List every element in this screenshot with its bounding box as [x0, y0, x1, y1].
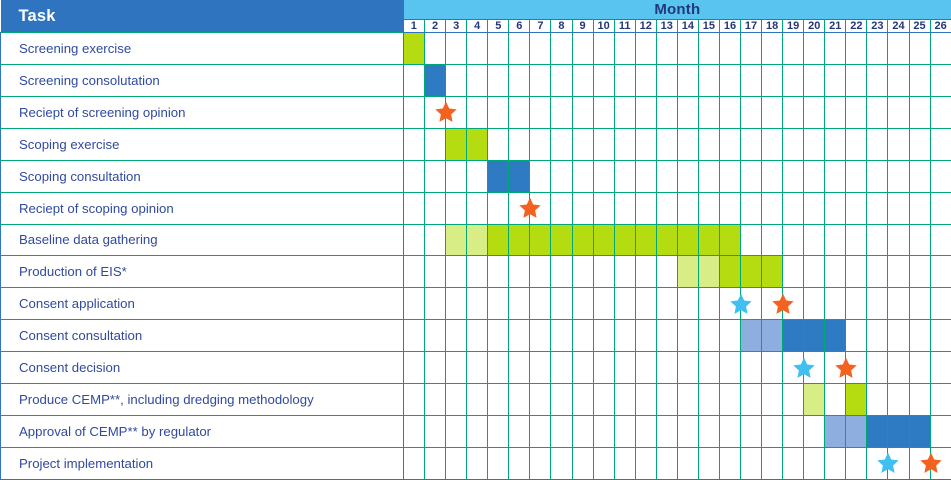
gantt-bar-cell: [467, 224, 488, 256]
gantt-bar-cell: [635, 224, 656, 256]
gantt-empty-cell: [783, 96, 804, 128]
gantt-empty-cell: [488, 320, 509, 352]
gantt-empty-cell: [614, 96, 635, 128]
month-header-24: 24: [888, 20, 909, 33]
gantt-bar-cell: [888, 416, 909, 448]
gantt-empty-cell: [551, 128, 572, 160]
gantt-empty-cell: [656, 192, 677, 224]
gantt-bar-cell: [488, 160, 509, 192]
gantt-bar-cell: [719, 224, 740, 256]
gantt-bar-cell: [425, 64, 446, 96]
gantt-row: Produce CEMP**, including dredging metho…: [1, 384, 951, 416]
gantt-empty-cell: [888, 447, 909, 479]
gantt-empty-cell: [656, 320, 677, 352]
gantt-empty-cell: [572, 320, 593, 352]
gantt-bar-cell: [404, 33, 425, 65]
gantt-empty-cell: [804, 192, 825, 224]
gantt-empty-cell: [804, 64, 825, 96]
gantt-empty-cell: [741, 352, 762, 384]
month-header-6: 6: [509, 20, 530, 33]
gantt-empty-cell: [551, 352, 572, 384]
gantt-empty-cell: [677, 128, 698, 160]
gantt-empty-cell: [783, 160, 804, 192]
gantt-empty-cell: [762, 416, 783, 448]
gantt-empty-cell: [404, 224, 425, 256]
gantt-empty-cell: [719, 320, 740, 352]
gantt-empty-cell: [530, 320, 551, 352]
gantt-empty-cell: [530, 33, 551, 65]
gantt-empty-cell: [656, 256, 677, 288]
gantt-empty-cell: [488, 256, 509, 288]
gantt-empty-cell: [425, 352, 446, 384]
gantt-empty-cell: [867, 96, 888, 128]
gantt-empty-cell: [467, 352, 488, 384]
gantt-bar-cell: [762, 320, 783, 352]
gantt-empty-cell: [614, 64, 635, 96]
gantt-empty-cell: [551, 96, 572, 128]
month-header-8: 8: [551, 20, 572, 33]
gantt-empty-cell: [825, 352, 846, 384]
gantt-empty-cell: [635, 320, 656, 352]
gantt-empty-cell: [593, 288, 614, 320]
gantt-bar-cell: [551, 224, 572, 256]
gantt-empty-cell: [404, 160, 425, 192]
gantt-empty-cell: [741, 160, 762, 192]
gantt-empty-cell: [425, 224, 446, 256]
gantt-empty-cell: [783, 33, 804, 65]
gantt-empty-cell: [509, 384, 530, 416]
gantt-empty-cell: [762, 288, 783, 320]
gantt-empty-cell: [719, 384, 740, 416]
gantt-empty-cell: [783, 128, 804, 160]
month-header-23: 23: [867, 20, 888, 33]
task-label: Screening consolutation: [1, 64, 404, 96]
gantt-empty-cell: [530, 416, 551, 448]
gantt-empty-cell: [741, 192, 762, 224]
gantt-empty-cell: [593, 256, 614, 288]
gantt-empty-cell: [572, 416, 593, 448]
gantt-empty-cell: [467, 320, 488, 352]
month-header-25: 25: [909, 20, 930, 33]
gantt-empty-cell: [719, 33, 740, 65]
gantt-empty-cell: [404, 320, 425, 352]
gantt-empty-cell: [825, 33, 846, 65]
gantt-empty-cell: [425, 160, 446, 192]
gantt-empty-cell: [930, 384, 951, 416]
gantt-empty-cell: [446, 96, 467, 128]
gantt-bar-cell: [867, 416, 888, 448]
gantt-empty-cell: [404, 288, 425, 320]
month-header-3: 3: [446, 20, 467, 33]
gantt-empty-cell: [530, 64, 551, 96]
gantt-empty-cell: [888, 192, 909, 224]
gantt-empty-cell: [930, 352, 951, 384]
gantt-empty-cell: [719, 288, 740, 320]
gantt-empty-cell: [593, 192, 614, 224]
gantt-empty-cell: [509, 64, 530, 96]
gantt-empty-cell: [635, 352, 656, 384]
gantt-empty-cell: [825, 192, 846, 224]
gantt-bar-cell: [614, 224, 635, 256]
gantt-empty-cell: [530, 128, 551, 160]
gantt-empty-cell: [404, 416, 425, 448]
gantt-empty-cell: [530, 447, 551, 479]
gantt-empty-cell: [677, 288, 698, 320]
task-label: Reciept of scoping opinion: [1, 192, 404, 224]
month-header-10: 10: [593, 20, 614, 33]
gantt-empty-cell: [488, 416, 509, 448]
gantt-empty-cell: [719, 192, 740, 224]
gantt-empty-cell: [698, 96, 719, 128]
task-label: Consent consultation: [1, 320, 404, 352]
task-label: Approval of CEMP** by regulator: [1, 416, 404, 448]
gantt-empty-cell: [741, 288, 762, 320]
gantt-empty-cell: [930, 96, 951, 128]
gantt-empty-cell: [762, 352, 783, 384]
gantt-empty-cell: [930, 224, 951, 256]
gantt-empty-cell: [867, 160, 888, 192]
gantt-empty-cell: [572, 192, 593, 224]
gantt-empty-cell: [572, 128, 593, 160]
gantt-empty-cell: [909, 192, 930, 224]
gantt-empty-cell: [698, 320, 719, 352]
gantt-empty-cell: [698, 352, 719, 384]
gantt-empty-cell: [446, 384, 467, 416]
gantt-empty-cell: [593, 96, 614, 128]
gantt-empty-cell: [656, 33, 677, 65]
gantt-bar-cell: [656, 224, 677, 256]
gantt-empty-cell: [783, 192, 804, 224]
month-header-21: 21: [825, 20, 846, 33]
gantt-empty-cell: [635, 192, 656, 224]
gantt-empty-cell: [762, 384, 783, 416]
gantt-empty-cell: [719, 64, 740, 96]
task-column-header: Task: [1, 0, 404, 33]
gantt-bar-cell: [825, 416, 846, 448]
gantt-empty-cell: [719, 128, 740, 160]
gantt-empty-cell: [783, 384, 804, 416]
task-label: Consent application: [1, 288, 404, 320]
gantt-empty-cell: [677, 33, 698, 65]
gantt-empty-cell: [719, 160, 740, 192]
gantt-empty-cell: [635, 288, 656, 320]
gantt-empty-cell: [698, 447, 719, 479]
gantt-empty-cell: [930, 256, 951, 288]
gantt-empty-cell: [572, 96, 593, 128]
gantt-empty-cell: [698, 64, 719, 96]
gantt-empty-cell: [530, 288, 551, 320]
gantt-empty-cell: [867, 320, 888, 352]
gantt-empty-cell: [677, 352, 698, 384]
gantt-empty-cell: [404, 192, 425, 224]
gantt-bar-cell: [825, 320, 846, 352]
gantt-empty-cell: [888, 384, 909, 416]
gantt-bar-cell: [909, 416, 930, 448]
gantt-empty-cell: [762, 64, 783, 96]
gantt-empty-cell: [446, 352, 467, 384]
task-label: Reciept of screening opinion: [1, 96, 404, 128]
gantt-bar-cell: [572, 224, 593, 256]
gantt-empty-cell: [888, 33, 909, 65]
gantt-row: Project implementation: [1, 447, 951, 479]
gantt-empty-cell: [551, 447, 572, 479]
gantt-empty-cell: [614, 33, 635, 65]
month-header-5: 5: [488, 20, 509, 33]
gantt-empty-cell: [846, 192, 867, 224]
gantt-empty-cell: [698, 160, 719, 192]
month-header-12: 12: [635, 20, 656, 33]
gantt-empty-cell: [783, 224, 804, 256]
gantt-empty-cell: [446, 256, 467, 288]
gantt-empty-cell: [888, 160, 909, 192]
gantt-empty-cell: [930, 128, 951, 160]
gantt-empty-cell: [446, 447, 467, 479]
gantt-empty-cell: [530, 352, 551, 384]
gantt-empty-cell: [446, 288, 467, 320]
gantt-empty-cell: [804, 416, 825, 448]
task-label: Consent decision: [1, 352, 404, 384]
gantt-empty-cell: [488, 33, 509, 65]
month-header-19: 19: [783, 20, 804, 33]
gantt-empty-cell: [404, 256, 425, 288]
gantt-empty-cell: [614, 288, 635, 320]
gantt-empty-cell: [614, 384, 635, 416]
gantt-empty-cell: [825, 447, 846, 479]
gantt-empty-cell: [698, 192, 719, 224]
gantt-empty-cell: [551, 320, 572, 352]
gantt-empty-cell: [551, 256, 572, 288]
gantt-empty-cell: [741, 224, 762, 256]
gantt-table-header: Task Month 12345678910111213141516171819…: [1, 0, 951, 33]
gantt-empty-cell: [846, 320, 867, 352]
gantt-empty-cell: [593, 128, 614, 160]
gantt-empty-cell: [741, 416, 762, 448]
gantt-empty-cell: [783, 288, 804, 320]
gantt-row: Screening exercise: [1, 33, 951, 65]
gantt-empty-cell: [698, 416, 719, 448]
gantt-bar-cell: [509, 224, 530, 256]
gantt-row: Consent consultation: [1, 320, 951, 352]
gantt-empty-cell: [846, 33, 867, 65]
gantt-empty-cell: [635, 384, 656, 416]
gantt-empty-cell: [425, 192, 446, 224]
gantt-empty-cell: [930, 33, 951, 65]
gantt-empty-cell: [741, 384, 762, 416]
gantt-empty-cell: [404, 352, 425, 384]
gantt-empty-cell: [467, 447, 488, 479]
task-label: Baseline data gathering: [1, 224, 404, 256]
gantt-empty-cell: [446, 320, 467, 352]
gantt-empty-cell: [467, 288, 488, 320]
gantt-empty-cell: [909, 384, 930, 416]
gantt-empty-cell: [488, 64, 509, 96]
gantt-empty-cell: [698, 384, 719, 416]
gantt-empty-cell: [446, 192, 467, 224]
gantt-row: Reciept of scoping opinion: [1, 192, 951, 224]
gantt-empty-cell: [509, 416, 530, 448]
month-header-16: 16: [719, 20, 740, 33]
gantt-empty-cell: [614, 192, 635, 224]
gantt-empty-cell: [551, 192, 572, 224]
gantt-empty-cell: [656, 128, 677, 160]
gantt-row: Consent decision: [1, 352, 951, 384]
gantt-empty-cell: [677, 384, 698, 416]
gantt-empty-cell: [635, 64, 656, 96]
gantt-empty-cell: [867, 447, 888, 479]
gantt-empty-cell: [509, 288, 530, 320]
task-label: Produce CEMP**, including dredging metho…: [1, 384, 404, 416]
gantt-empty-cell: [572, 352, 593, 384]
task-label: Scoping consultation: [1, 160, 404, 192]
gantt-empty-cell: [888, 320, 909, 352]
gantt-empty-cell: [656, 160, 677, 192]
gantt-empty-cell: [530, 256, 551, 288]
gantt-empty-cell: [467, 416, 488, 448]
gantt-empty-cell: [551, 416, 572, 448]
gantt-empty-cell: [930, 288, 951, 320]
gantt-empty-cell: [804, 224, 825, 256]
gantt-empty-cell: [677, 160, 698, 192]
gantt-empty-cell: [488, 384, 509, 416]
gantt-empty-cell: [698, 128, 719, 160]
gantt-empty-cell: [804, 33, 825, 65]
gantt-empty-cell: [846, 64, 867, 96]
gantt-empty-cell: [867, 33, 888, 65]
gantt-empty-cell: [656, 64, 677, 96]
gantt-empty-cell: [593, 160, 614, 192]
gantt-row: Consent application: [1, 288, 951, 320]
gantt-empty-cell: [467, 33, 488, 65]
gantt-empty-cell: [425, 416, 446, 448]
gantt-empty-cell: [425, 288, 446, 320]
gantt-empty-cell: [425, 128, 446, 160]
gantt-empty-cell: [825, 384, 846, 416]
gantt-empty-cell: [509, 320, 530, 352]
gantt-empty-cell: [888, 256, 909, 288]
gantt-empty-cell: [909, 64, 930, 96]
gantt-empty-cell: [719, 416, 740, 448]
gantt-bar-cell: [762, 256, 783, 288]
gantt-empty-cell: [614, 447, 635, 479]
gantt-empty-cell: [572, 384, 593, 416]
gantt-empty-cell: [930, 192, 951, 224]
gantt-bar-cell: [804, 384, 825, 416]
gantt-empty-cell: [741, 64, 762, 96]
gantt-empty-cell: [425, 256, 446, 288]
gantt-empty-cell: [825, 64, 846, 96]
gantt-empty-cell: [488, 288, 509, 320]
task-label: Production of EIS*: [1, 256, 404, 288]
gantt-empty-cell: [656, 96, 677, 128]
month-header-2: 2: [425, 20, 446, 33]
gantt-empty-cell: [593, 320, 614, 352]
gantt-bar-cell: [741, 320, 762, 352]
gantt-empty-cell: [783, 352, 804, 384]
gantt-table-body: Screening exerciseScreening consolutatio…: [1, 33, 951, 480]
gantt-empty-cell: [467, 160, 488, 192]
task-label: Scoping exercise: [1, 128, 404, 160]
gantt-empty-cell: [867, 224, 888, 256]
gantt-empty-cell: [446, 64, 467, 96]
gantt-empty-cell: [867, 128, 888, 160]
gantt-empty-cell: [551, 384, 572, 416]
gantt-empty-cell: [846, 288, 867, 320]
gantt-empty-cell: [762, 33, 783, 65]
gantt-empty-cell: [846, 224, 867, 256]
gantt-empty-cell: [719, 352, 740, 384]
gantt-empty-cell: [488, 128, 509, 160]
gantt-empty-cell: [509, 192, 530, 224]
gantt-empty-cell: [909, 128, 930, 160]
gantt-empty-cell: [635, 96, 656, 128]
gantt-empty-cell: [867, 192, 888, 224]
gantt-empty-cell: [446, 33, 467, 65]
gantt-empty-cell: [846, 256, 867, 288]
gantt-empty-cell: [593, 384, 614, 416]
gantt-empty-cell: [656, 288, 677, 320]
gantt-empty-cell: [867, 64, 888, 96]
gantt-bar-cell: [698, 256, 719, 288]
gantt-row: Baseline data gathering: [1, 224, 951, 256]
gantt-row: Approval of CEMP** by regulator: [1, 416, 951, 448]
gantt-empty-cell: [551, 288, 572, 320]
gantt-empty-cell: [614, 416, 635, 448]
gantt-empty-cell: [656, 352, 677, 384]
month-header-17: 17: [741, 20, 762, 33]
month-header-11: 11: [614, 20, 635, 33]
gantt-empty-cell: [698, 288, 719, 320]
gantt-empty-cell: [677, 64, 698, 96]
month-header-14: 14: [677, 20, 698, 33]
gantt-empty-cell: [614, 128, 635, 160]
gantt-empty-cell: [741, 128, 762, 160]
gantt-empty-cell: [593, 447, 614, 479]
gantt-empty-cell: [909, 33, 930, 65]
gantt-empty-cell: [614, 352, 635, 384]
gantt-empty-cell: [930, 160, 951, 192]
gantt-empty-cell: [804, 256, 825, 288]
gantt-empty-cell: [656, 416, 677, 448]
gantt-empty-cell: [867, 384, 888, 416]
gantt-empty-cell: [804, 447, 825, 479]
gantt-empty-cell: [509, 447, 530, 479]
gantt-empty-cell: [530, 384, 551, 416]
gantt-empty-cell: [656, 447, 677, 479]
gantt-empty-cell: [909, 160, 930, 192]
gantt-empty-cell: [825, 224, 846, 256]
gantt-empty-cell: [509, 128, 530, 160]
gantt-empty-cell: [909, 320, 930, 352]
gantt-bar-cell: [509, 160, 530, 192]
gantt-empty-cell: [930, 447, 951, 479]
gantt-empty-cell: [656, 384, 677, 416]
task-label: Screening exercise: [1, 33, 404, 65]
gantt-empty-cell: [593, 33, 614, 65]
gantt-empty-cell: [404, 96, 425, 128]
gantt-empty-cell: [425, 447, 446, 479]
gantt-empty-cell: [530, 192, 551, 224]
gantt-empty-cell: [783, 447, 804, 479]
gantt-row: Screening consolutation: [1, 64, 951, 96]
gantt-empty-cell: [909, 352, 930, 384]
gantt-empty-cell: [867, 352, 888, 384]
gantt-empty-cell: [930, 64, 951, 96]
gantt-empty-cell: [846, 128, 867, 160]
gantt-empty-cell: [762, 447, 783, 479]
gantt-chart: Task Month 12345678910111213141516171819…: [0, 0, 951, 480]
gantt-empty-cell: [404, 447, 425, 479]
gantt-empty-cell: [509, 256, 530, 288]
